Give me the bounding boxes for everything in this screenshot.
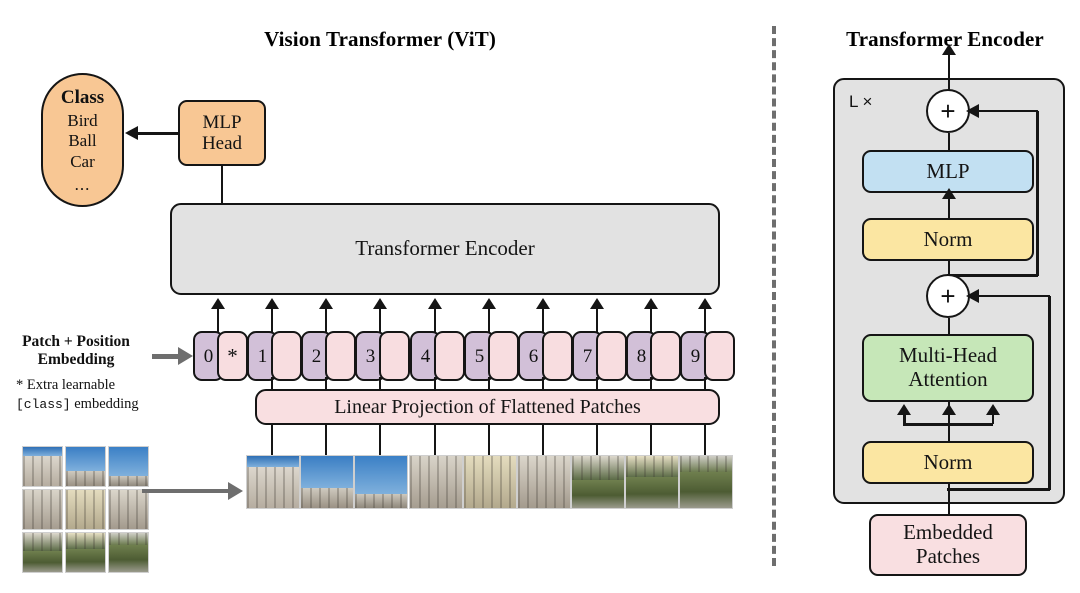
source-patch-r3-c1	[22, 532, 63, 573]
embedded-patches-box: Embedded Patches	[869, 514, 1027, 576]
repeat-count-label: L ×	[849, 92, 872, 112]
patch-building	[109, 490, 148, 529]
norm-bottom-box: Norm	[862, 441, 1034, 484]
qkv-mid-arrowhead	[942, 404, 956, 415]
qkv-right-arrowhead	[986, 404, 1000, 415]
source-patch-r1-c2	[65, 446, 106, 487]
patch-sky	[109, 447, 148, 476]
linear-projection-box: Linear Projection of Flattened Patches	[255, 389, 720, 425]
class-ellipsis: ...	[75, 175, 91, 196]
encoder-arrow-stem-7	[596, 309, 599, 310]
panel-divider	[772, 26, 776, 566]
mlp-box: MLP	[862, 150, 1034, 193]
patch-building	[410, 456, 462, 508]
class-token-code: [class]	[16, 397, 71, 412]
residual-inner-bottom-hline	[947, 274, 1038, 277]
residual-inner-top-hline	[972, 110, 1038, 113]
source-patch-r2-c2	[65, 489, 106, 530]
token-stem-up-9	[704, 309, 707, 332]
patch-building	[355, 494, 407, 508]
encoder-arrow-stem-5	[488, 309, 491, 310]
token-stem-up-7	[596, 309, 599, 332]
patch-building	[66, 471, 105, 486]
patch-stem-2	[325, 425, 328, 455]
mlp-head-box: MLP Head	[178, 100, 266, 166]
encoder-arrow-stem-8	[650, 309, 653, 310]
attention-label-line1: Multi-Head	[899, 344, 997, 368]
flattened-patch-5	[463, 455, 517, 509]
token-stem-down-6	[542, 377, 545, 389]
plus-symbol-top: +	[940, 98, 955, 124]
note-line-2: [class] embedding	[16, 395, 186, 414]
token-embedding-9	[704, 331, 735, 381]
token-embedding-8	[650, 331, 681, 381]
class-output-pill: Class Bird Ball Car ...	[41, 73, 124, 207]
patch-building	[109, 533, 148, 545]
source-patch-r2-c1	[22, 489, 63, 530]
token-stem-down-9	[704, 377, 707, 389]
residual-add-top: +	[926, 89, 970, 133]
flattened-patch-7	[571, 455, 625, 509]
flattened-patch-2	[300, 455, 354, 509]
class-item-car: Car	[70, 152, 95, 173]
encoder-arrow-stem-1	[271, 309, 274, 310]
token-stem-down-7	[596, 377, 599, 389]
token-stem-up-0	[217, 309, 220, 332]
source-patch-r3-c2	[65, 532, 106, 573]
source-patch-r2-c3	[108, 489, 149, 530]
attention-label-line2: Attention	[908, 368, 987, 392]
encoder-arrow-stem-2	[325, 309, 328, 310]
token-stem-up-3	[379, 309, 382, 332]
patch-position-label-line2: Embedding	[6, 351, 146, 369]
patch-garden	[626, 477, 678, 508]
encoder-arrow-head-9	[698, 298, 712, 309]
embedding-label-arrowhead	[178, 347, 193, 365]
patch-position-label-line1: Patch + Position	[6, 333, 146, 351]
token-embedding-7	[596, 331, 627, 381]
transformer-encoder-box: Transformer Encoder	[170, 203, 720, 295]
token-stem-down-1	[271, 377, 274, 389]
patch-building	[66, 533, 105, 549]
encoder-arrow-head-1	[265, 298, 279, 309]
residual-outer-right-vline	[1048, 296, 1051, 490]
patch-sky	[355, 456, 407, 494]
patch-sky	[301, 456, 353, 488]
encoder-arrow-stem-6	[542, 309, 545, 310]
encoder-arrow-head-8	[644, 298, 658, 309]
token-stem-down-2	[325, 377, 328, 389]
mlp-head-label-line1: MLP	[202, 112, 241, 133]
mlphead-to-class-line	[138, 132, 178, 135]
patch-stem-7	[596, 425, 599, 455]
encoder-arrow-head-7	[590, 298, 604, 309]
token-stem-down-3	[379, 377, 382, 389]
mlphead-to-encoder-line	[221, 166, 224, 203]
patch-garden	[66, 549, 105, 572]
token-embedding-2	[325, 331, 356, 381]
patch-stem-9	[704, 425, 707, 455]
plus-symbol-mid: +	[940, 283, 955, 309]
encoder-output-arrowhead	[942, 44, 956, 55]
token-stem-up-8	[650, 309, 653, 332]
residual-inner-arrowhead	[966, 104, 979, 118]
patch-stem-5	[488, 425, 491, 455]
patch-building	[680, 456, 732, 472]
patch-garden	[23, 551, 62, 572]
encoder-arrow-head-2	[319, 298, 333, 309]
token-stem-up-5	[488, 309, 491, 332]
qkv-left-arrowhead	[897, 404, 911, 415]
token-stem-down-8	[650, 377, 653, 389]
encoder-arrow-head-5	[482, 298, 496, 309]
image-to-strip-arrowhead	[228, 482, 243, 500]
token-class-star: *	[217, 331, 248, 381]
token-embedding-4	[434, 331, 465, 381]
transformer-encoder-label: Transformer Encoder	[355, 237, 534, 261]
norm-top-label: Norm	[924, 228, 973, 252]
flattened-patch-4	[409, 455, 463, 509]
encoder-arrow-stem-0	[217, 309, 220, 310]
patch-building	[23, 456, 62, 486]
patch-garden	[680, 472, 732, 508]
patch-building	[626, 456, 678, 477]
linear-projection-label: Linear Projection of Flattened Patches	[334, 396, 641, 418]
patch-building	[518, 456, 570, 508]
encoder-arrow-stem-3	[379, 309, 382, 310]
norm-top-box: Norm	[862, 218, 1034, 261]
token-stem-up-1	[271, 309, 274, 332]
patch-sky	[66, 447, 105, 471]
patch-stem-1	[271, 425, 274, 455]
patch-stem-8	[650, 425, 653, 455]
patch-sky	[247, 456, 299, 467]
residual-add-mid: +	[926, 274, 970, 318]
flattened-patch-1	[246, 455, 300, 509]
patch-garden	[109, 545, 148, 572]
image-to-strip-arrow-line	[142, 489, 230, 493]
patch-building	[23, 533, 62, 551]
source-patch-r1-c1	[22, 446, 63, 487]
embedding-label-arrow-line	[152, 354, 180, 359]
encoder-arrow-stem-4	[434, 309, 437, 310]
encoder-arrow-head-4	[428, 298, 442, 309]
residual-inner-right-vline	[1036, 111, 1039, 276]
mlphead-to-class-arrowhead	[125, 126, 138, 140]
encoder-arrow-head-3	[373, 298, 387, 309]
left-panel-title: Vision Transformer (ViT)	[190, 27, 570, 52]
residual-outer-arrowhead	[966, 289, 979, 303]
class-pill-heading: Class	[61, 86, 104, 109]
token-embedding-3	[379, 331, 410, 381]
token-embedding-1	[271, 331, 302, 381]
note-tail: embedding	[71, 396, 139, 412]
extra-learnable-note: * Extra learnable [class] embedding	[16, 376, 186, 414]
patch-stem-6	[542, 425, 545, 455]
patch-garden	[572, 480, 624, 508]
patch-sky	[23, 447, 62, 456]
token-stem-down-4	[434, 377, 437, 389]
token-stem-down-5	[488, 377, 491, 389]
class-item-bird: Bird	[67, 111, 97, 132]
flattened-patch-9	[679, 455, 733, 509]
normtop-to-mlp-arrowhead	[942, 188, 956, 199]
patch-building	[464, 456, 516, 508]
patch-building	[66, 490, 105, 529]
patch-building	[109, 476, 148, 486]
patch-position-embedding-label: Patch + Position Embedding	[6, 333, 146, 369]
patch-building	[247, 467, 299, 508]
patch-building	[301, 488, 353, 508]
patch-stem-4	[434, 425, 437, 455]
encoder-arrow-head-6	[536, 298, 550, 309]
token-stem-up-4	[434, 309, 437, 332]
token-stem-up-6	[542, 309, 545, 332]
mlp-head-label-line2: Head	[202, 133, 242, 154]
embedded-patches-line1: Embedded	[903, 521, 993, 545]
encoder-arrow-stem-9	[704, 309, 707, 310]
source-patch-r3-c3	[108, 532, 149, 573]
source-patch-r1-c3	[108, 446, 149, 487]
token-embedding-6	[542, 331, 573, 381]
multi-head-attention-box: Multi-Head Attention	[862, 334, 1034, 402]
vit-architecture-figure: Vision Transformer (ViT) Class Bird Ball…	[0, 0, 1080, 593]
class-item-ball: Ball	[68, 131, 96, 152]
note-line-1: * Extra learnable	[16, 376, 186, 395]
token-embedding-5	[488, 331, 519, 381]
flattened-patch-6	[517, 455, 571, 509]
residual-outer-top-hline	[972, 295, 1050, 298]
embedded-patches-line2: Patches	[916, 545, 980, 569]
mlp-label: MLP	[926, 160, 969, 184]
patch-building	[572, 456, 624, 480]
patch-building	[23, 490, 62, 529]
flattened-patch-3	[354, 455, 408, 509]
flattened-patch-8	[625, 455, 679, 509]
token-stem-up-2	[325, 309, 328, 332]
norm-bottom-label: Norm	[924, 451, 973, 475]
residual-outer-bottom-hline	[947, 488, 1050, 491]
patch-stem-3	[379, 425, 382, 455]
encoder-arrow-head-0	[211, 298, 225, 309]
